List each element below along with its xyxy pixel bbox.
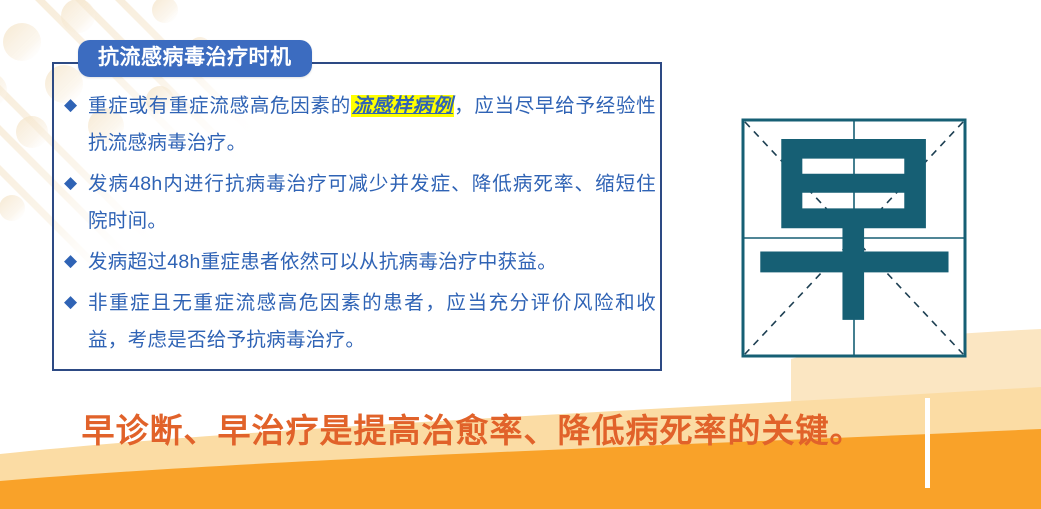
bullet-list: ◆ 重症或有重症流感高危因素的流感样病例，应当尽早给予经验性抗流感病毒治疗。 ◆… [62,88,662,363]
calligraphy-character: 早 [754,118,954,349]
list-item: ◆ 发病48h内进行抗病毒治疗可减少并发症、降低病死率、缩短住院时间。 [62,166,662,240]
bullet-text-2: 发病48h内进行抗病毒治疗可减少并发症、降低病死率、缩短住院时间。 [88,166,662,240]
bullet-1-highlight: 流感样病例 [351,95,454,117]
list-item: ◆ 重症或有重症流感高危因素的流感样病例，应当尽早给予经验性抗流感病毒治疗。 [62,88,662,162]
slide-slogan: 早诊断、早治疗是提高治愈率、降低病死率的关键。 [0,404,945,452]
diamond-bullet-icon: ◆ [62,244,88,278]
diamond-bullet-icon: ◆ [62,88,88,122]
diamond-bullet-icon: ◆ [62,166,88,200]
bullet-1-pre: 重症或有重症流感高危因素的 [88,95,351,117]
list-item: ◆ 非重症且无重症流感高危因素的患者，应当充分评价风险和收益，考虑是否给予抗病毒… [62,285,662,359]
section-title-badge: 抗流感病毒治疗时机 [78,40,312,77]
diamond-bullet-icon: ◆ [62,285,88,319]
slide-canvas: 抗流感病毒治疗时机 ◆ 重症或有重症流感高危因素的流感样病例，应当尽早给予经验性… [0,0,1041,509]
list-item: ◆ 发病超过48h重症患者依然可以从抗病毒治疗中获益。 [62,244,662,281]
bullet-text-1: 重症或有重症流感高危因素的流感样病例，应当尽早给予经验性抗流感病毒治疗。 [88,88,662,162]
bullet-text-3: 发病超过48h重症患者依然可以从抗病毒治疗中获益。 [88,244,662,281]
bullet-text-4: 非重症且无重症流感高危因素的患者，应当充分评价风险和收益，考虑是否给予抗病毒治疗… [88,285,662,359]
calligraphy-grid-icon: 早 [741,118,967,358]
